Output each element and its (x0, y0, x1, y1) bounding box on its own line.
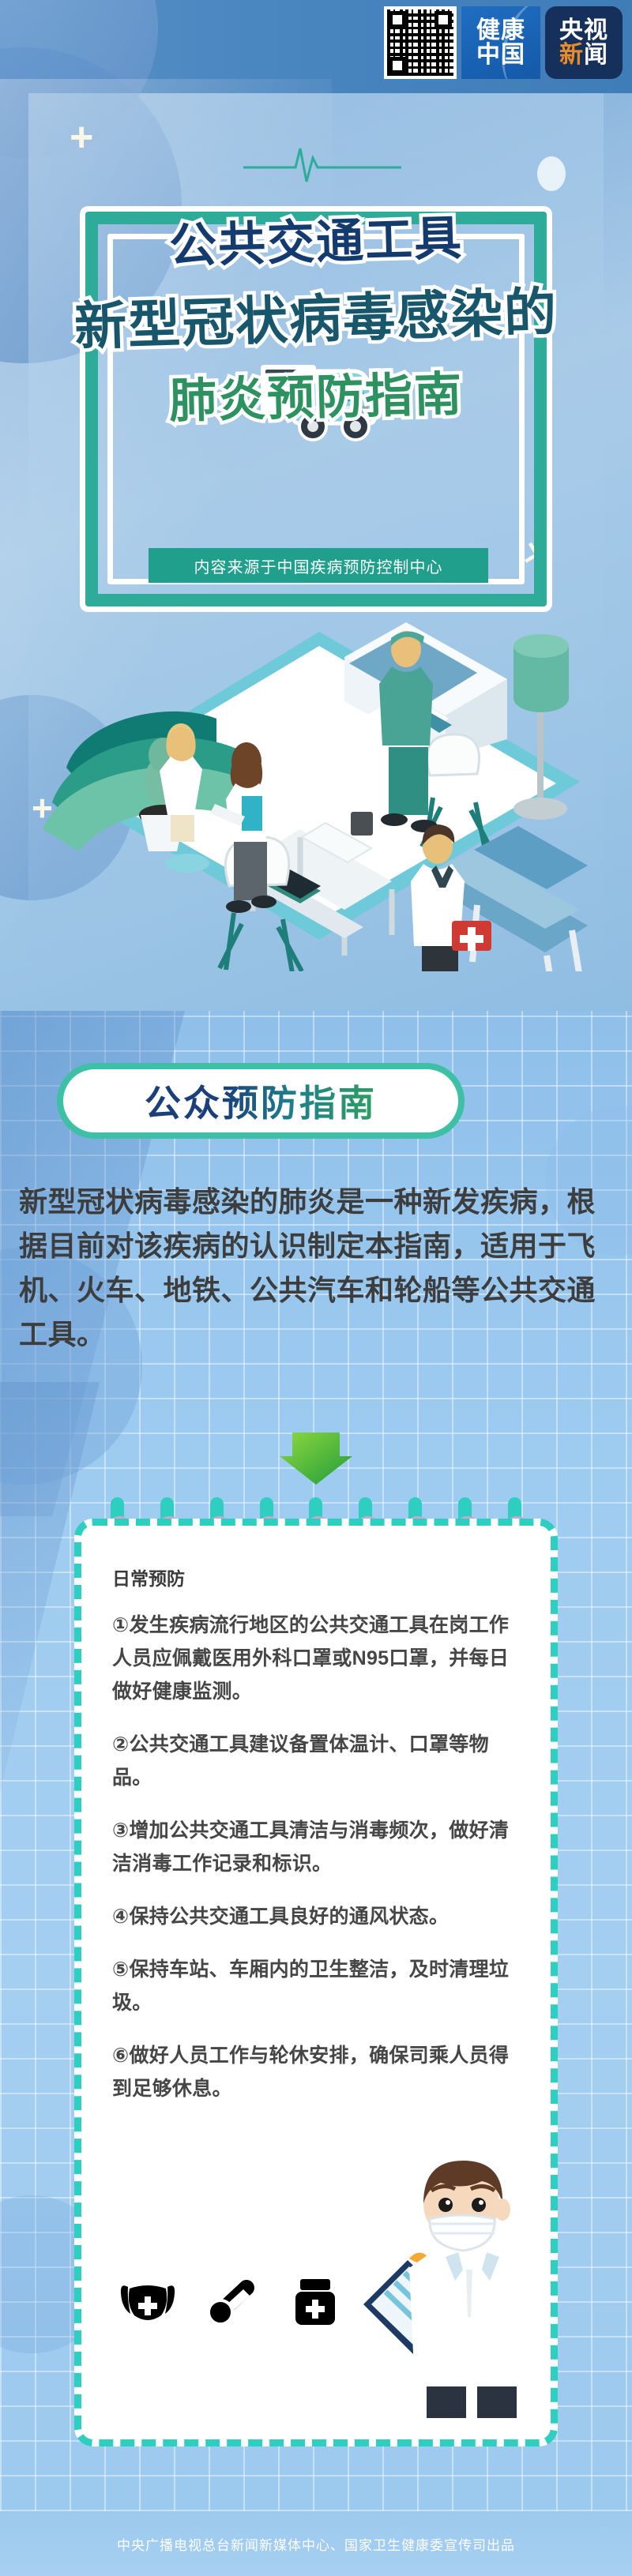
cctv-news-logo: 央视 新闻 (545, 6, 623, 79)
hospital-illustration (35, 600, 600, 971)
footer-credit-bar: 中央广播电视总台新闻新媒体中心、国家卫生健康委宣传司出品 (0, 2511, 632, 2576)
card-heading: 日常预防 (112, 1564, 185, 1590)
masked-doctor-illustration (348, 2157, 529, 2418)
list-item: ③增加公共交通工具清洁与消毒频次，做好清洁消毒工作记录和标识。 (112, 1814, 523, 1880)
cctv-line2: 新闻 (559, 43, 608, 68)
supply-icons (118, 2277, 341, 2327)
health-china-line1: 健康 (476, 18, 525, 43)
infographic-page: 健康 中国 央视 新闻 + + ✕ 公共交通工具 新型冠状病毒感染的 肺炎预防指… (0, 0, 632, 2576)
qr-code-icon[interactable] (384, 6, 457, 79)
medicine-bottle-icon (289, 2277, 341, 2326)
down-arrow-icon (278, 1429, 354, 1488)
list-item: ⑥做好人员工作与轮休安排，确保司乘人员得到足够休息。 (112, 2039, 523, 2105)
footer-credit-text: 中央广播电视总台新闻新媒体中心、国家卫生健康委宣传司出品 (117, 2534, 515, 2554)
health-china-logo: 健康 中国 (461, 6, 540, 79)
list-item: ⑤保持车站、车厢内的卫生整洁，及时清理垃圾。 (112, 1953, 523, 2019)
hero-title: 公共交通工具 新型冠状病毒感染的 肺炎预防指南 (0, 204, 632, 428)
prevention-item-list: ①发生疾病流行地区的公共交通工具在岗工作人员应佩戴医用外科口罩或N95口罩，并每… (112, 1609, 523, 2125)
intro-paragraph: 新型冠状病毒感染的肺炎是一种新发疾病，根据目前对该疾病的认识制定本指南，适用于飞… (19, 1180, 613, 1357)
health-china-line2: 中国 (476, 43, 525, 68)
title-line-2: 新型冠状病毒感染的 (0, 267, 632, 362)
heartbeat-line-icon (243, 141, 401, 188)
guide-section: + 公众预防指南 新型冠状病毒感染的肺炎是一种新发疾病，根据目前对该疾病的认识制… (0, 1011, 632, 2511)
title-line-3: 肺炎预防指南 (0, 351, 632, 436)
source-bar: 内容来源于中国疾病预防控制中心 (149, 548, 488, 583)
cctv-line1: 央视 (559, 18, 608, 43)
thermometer-icon (205, 2277, 261, 2327)
list-item: ④保持公共交通工具良好的通风状态。 (112, 1900, 523, 1933)
list-item: ①发生疾病流行地区的公共交通工具在岗工作人员应佩戴医用外科口罩或N95口罩，并每… (112, 1609, 523, 1708)
plus-decor-icon: + (70, 117, 93, 158)
hero-section: 健康 中国 央视 新闻 + + ✕ 公共交通工具 新型冠状病毒感染的 肺炎预防指… (0, 0, 632, 1011)
list-item: ②公共交通工具建议备置体温计、口罩等物品。 (112, 1728, 523, 1794)
section-title-text: 公众预防指南 (145, 1075, 377, 1127)
face-mask-icon (118, 2277, 177, 2326)
section-title-pill: 公众预防指南 (57, 1063, 465, 1139)
brand-logo-row: 健康 中国 央视 新闻 (384, 6, 623, 79)
source-text: 内容来源于中国疾病预防控制中心 (194, 554, 443, 577)
title-line-1: 公共交通工具 (0, 195, 632, 281)
dot-decor-icon (537, 156, 566, 191)
